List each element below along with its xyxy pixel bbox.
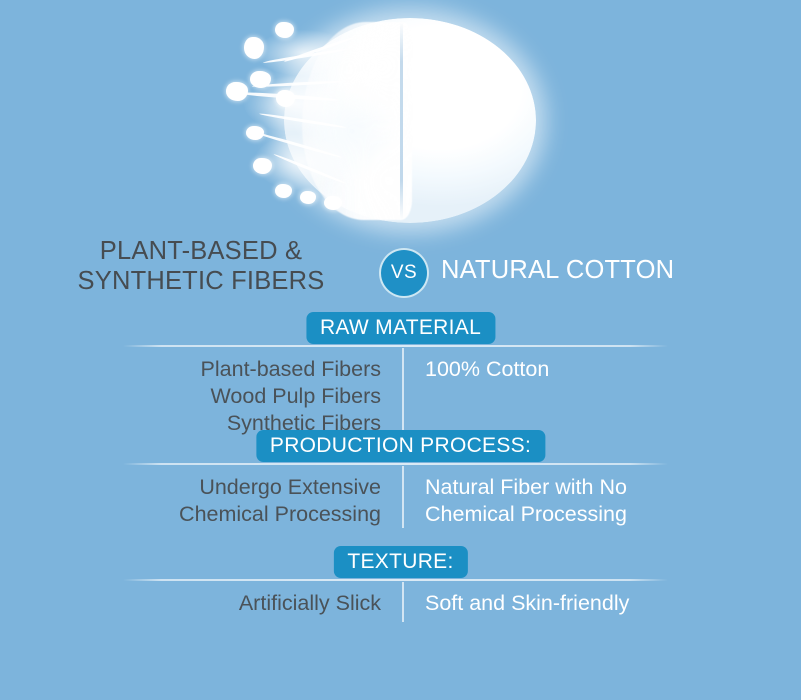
section-divider [123, 345, 668, 347]
section-header: TEXTURE: [0, 546, 801, 582]
cotton-ball-seam [400, 22, 403, 220]
section-header: RAW MATERIAL [0, 312, 801, 348]
comparison-infographic: PLANT-BASED & SYNTHETIC FIBERS NATURAL C… [0, 0, 801, 700]
cell-right: Natural Fiber with No Chemical Processin… [403, 474, 801, 528]
section-production-process: PRODUCTION PROCESS: Undergo Extensive Ch… [0, 430, 801, 546]
fiber-tuft [244, 37, 264, 59]
section-body: Artificially Slick Soft and Skin-friendl… [0, 582, 801, 617]
fiber-tuft [226, 82, 248, 101]
column-divider [402, 348, 404, 430]
section-body: Undergo Extensive Chemical Processing Na… [0, 466, 801, 528]
section-chip-production-process: PRODUCTION PROCESS: [256, 430, 545, 462]
cell-right: 100% Cotton [403, 356, 801, 383]
section-divider [123, 463, 668, 465]
vs-badge: VS [379, 248, 429, 298]
section-chip-texture: TEXTURE: [333, 546, 467, 578]
section-body: Plant-based Fibers Wood Pulp Fibers Synt… [0, 348, 801, 437]
comparison-sections: RAW MATERIAL Plant-based Fibers Wood Pul… [0, 312, 801, 636]
fiber-tuft [253, 158, 272, 174]
section-chip-raw-material: RAW MATERIAL [306, 312, 495, 344]
fiber-tuft [276, 90, 295, 107]
title-right: NATURAL COTTON [441, 255, 771, 285]
column-divider [402, 466, 404, 528]
fiber-tuft [246, 126, 264, 140]
fiber-tuft [275, 184, 292, 198]
section-raw-material: RAW MATERIAL Plant-based Fibers Wood Pul… [0, 312, 801, 430]
hero-image-region [0, 0, 801, 232]
fiber-tuft [324, 196, 342, 210]
fiber-tuft [300, 191, 316, 204]
section-texture: TEXTURE: Artificially Slick Soft and Ski… [0, 546, 801, 636]
split-cotton-ball-image [228, 6, 568, 230]
cell-left: Artificially Slick [0, 590, 403, 617]
cell-left: Plant-based Fibers Wood Pulp Fibers Synt… [0, 356, 403, 437]
section-header: PRODUCTION PROCESS: [0, 430, 801, 466]
title-left: PLANT-BASED & SYNTHETIC FIBERS [36, 236, 366, 296]
fiber-tuft [275, 22, 294, 38]
fiber-tuft [250, 71, 271, 88]
cell-right: Soft and Skin-friendly [403, 590, 801, 617]
column-divider [402, 582, 404, 622]
section-divider [123, 579, 668, 581]
cell-left: Undergo Extensive Chemical Processing [0, 474, 403, 528]
